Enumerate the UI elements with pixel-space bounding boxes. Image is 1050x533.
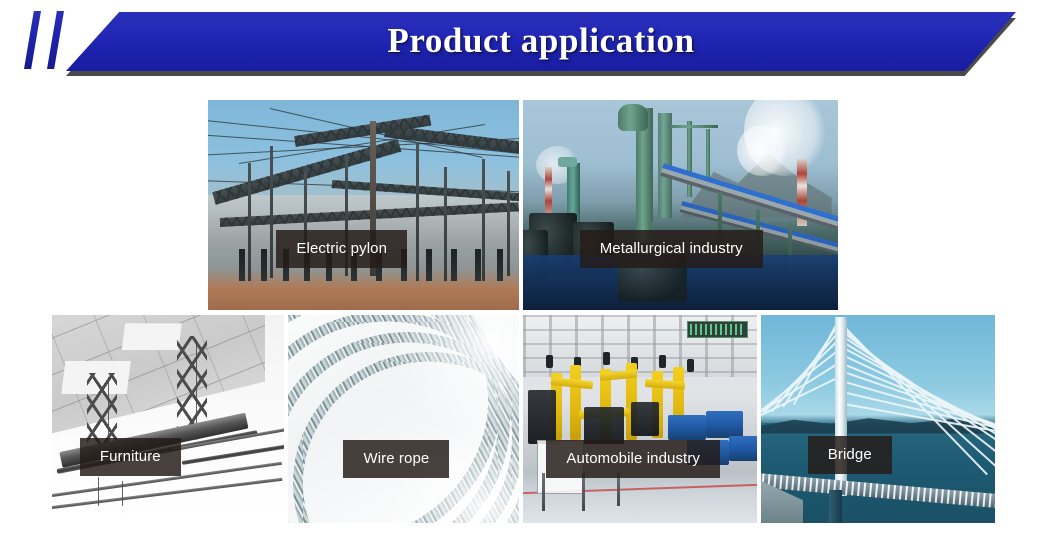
slide-root: Product application — [0, 0, 1050, 533]
card-caption: Bridge — [808, 436, 892, 474]
card-caption: Furniture — [80, 438, 181, 476]
banner-stripe-icon — [24, 11, 41, 69]
card-caption: Electric pylon — [276, 230, 407, 268]
photo-electric-pylon — [208, 100, 519, 310]
photo-automobile-industry — [523, 315, 757, 523]
photo-bridge — [761, 315, 995, 523]
gallery-card-wire-rope[interactable]: Wire rope — [288, 315, 519, 523]
photo-wire-rope — [288, 315, 519, 523]
card-caption: Metallurgical industry — [580, 230, 763, 268]
header-banner: Product application — [0, 0, 1050, 86]
photo-furniture — [52, 315, 284, 523]
card-caption: Automobile industry — [546, 440, 720, 478]
banner-stripe-icon — [47, 11, 64, 69]
gallery-card-metallurgical-industry[interactable]: Metallurgical industry — [523, 100, 838, 310]
gallery-card-furniture[interactable]: Furniture — [52, 315, 284, 523]
banner-body: Product application — [66, 12, 1016, 71]
photo-metallurgical-industry — [523, 100, 838, 310]
card-caption: Wire rope — [343, 440, 449, 478]
gallery-card-bridge[interactable]: Bridge — [761, 315, 995, 523]
gallery-card-electric-pylon[interactable]: Electric pylon — [208, 100, 519, 310]
page-title: Product application — [387, 21, 694, 63]
gallery-card-automobile-industry[interactable]: Automobile industry — [523, 315, 757, 523]
